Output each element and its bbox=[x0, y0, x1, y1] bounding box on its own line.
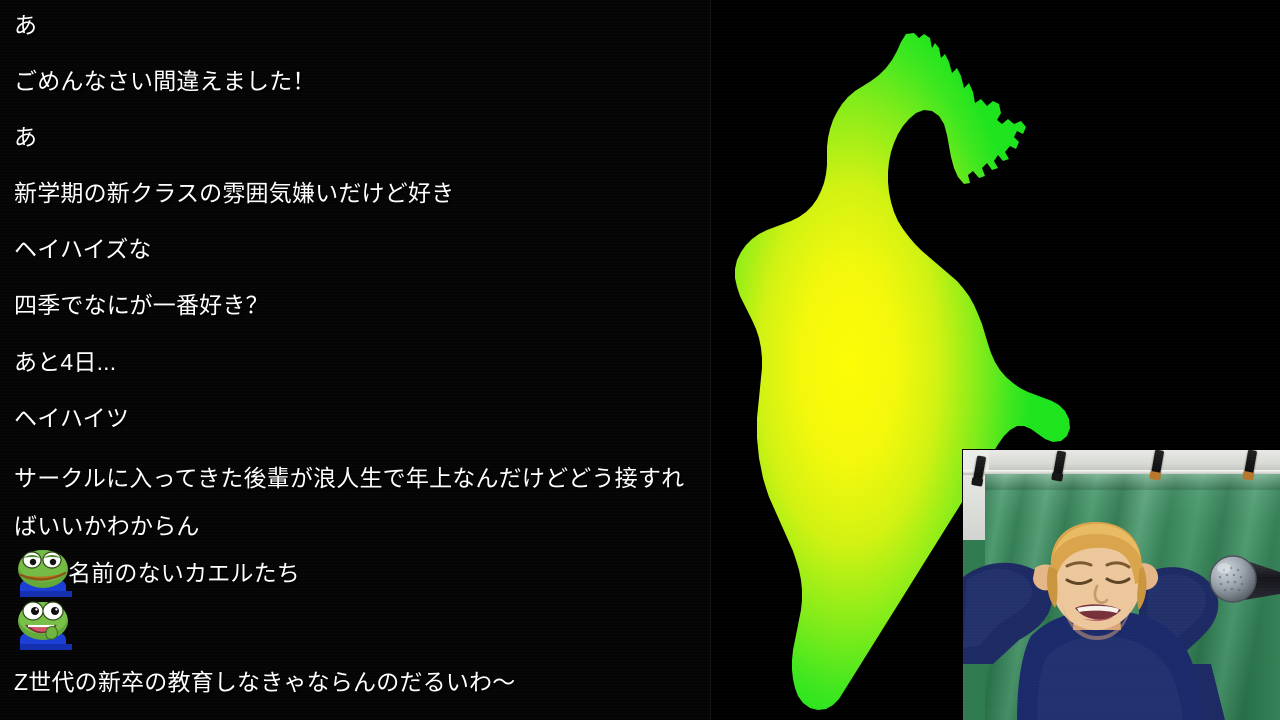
chat-message-text: 新学期の新クラスの雰囲気嫌いだけど好き bbox=[14, 180, 454, 206]
chat-message: あ bbox=[0, 8, 51, 40]
chat-message-text: あと4日... bbox=[14, 349, 116, 375]
chat-message-text: Z世代の新卒の教育しなきゃならんのだるいわ〜 bbox=[14, 669, 515, 695]
chat-message: ヘイハイツ bbox=[0, 401, 143, 433]
chat-message-text: ヘイハイズな bbox=[14, 236, 152, 262]
chat-message-text: ヘイハイツ bbox=[14, 405, 129, 431]
chat-message-text: 名前のないカエルたち bbox=[68, 558, 300, 588]
chat-message: 新学期の新クラスの雰囲気嫌いだけど好き bbox=[0, 176, 468, 208]
chat-message: あ bbox=[0, 120, 51, 152]
chat-message-text: サークルに入ってきた後輩が浪人生で年上なんだけどどう接すればいいかわからん bbox=[14, 465, 684, 539]
chat-message-text: 四季でなにが一番好き？ bbox=[14, 292, 269, 318]
chat-message-text: ごめんなさい間違えました！ bbox=[14, 68, 316, 94]
chat-message: ごめんなさい間違えました！ bbox=[0, 64, 330, 96]
pepe-happy-frog-emote bbox=[14, 598, 72, 650]
chat-message: あと4日... bbox=[0, 345, 130, 377]
streamer-webcam-overlay[interactable] bbox=[963, 450, 1280, 720]
chat-panel[interactable]: あ ごめんなさい間違えました！ あ 新学期の新クラスの雰囲気嫌いだけど好き ヘイ… bbox=[0, 0, 711, 720]
chat-message: サークルに入ってきた後輩が浪人生で年上なんだけどどう接すればいいかわからん bbox=[0, 453, 700, 549]
chat-message: Z世代の新卒の教育しなきゃならんのだるいわ〜 bbox=[0, 665, 529, 697]
chat-message: 四季でなにが一番好き？ bbox=[0, 288, 283, 320]
pepe-sad-frog-emote bbox=[14, 545, 72, 597]
stream-layout: あ ごめんなさい間違えました！ あ 新学期の新クラスの雰囲気嫌いだけど好き ヘイ… bbox=[0, 0, 1280, 720]
chat-message-text: あ bbox=[14, 12, 37, 38]
microphone-icon bbox=[1206, 550, 1280, 610]
chat-message bbox=[0, 598, 88, 654]
chat-message: ヘイハイズな bbox=[0, 232, 166, 264]
chat-message-text: あ bbox=[14, 124, 37, 150]
chat-message: 名前のないカエルたち bbox=[0, 545, 314, 601]
